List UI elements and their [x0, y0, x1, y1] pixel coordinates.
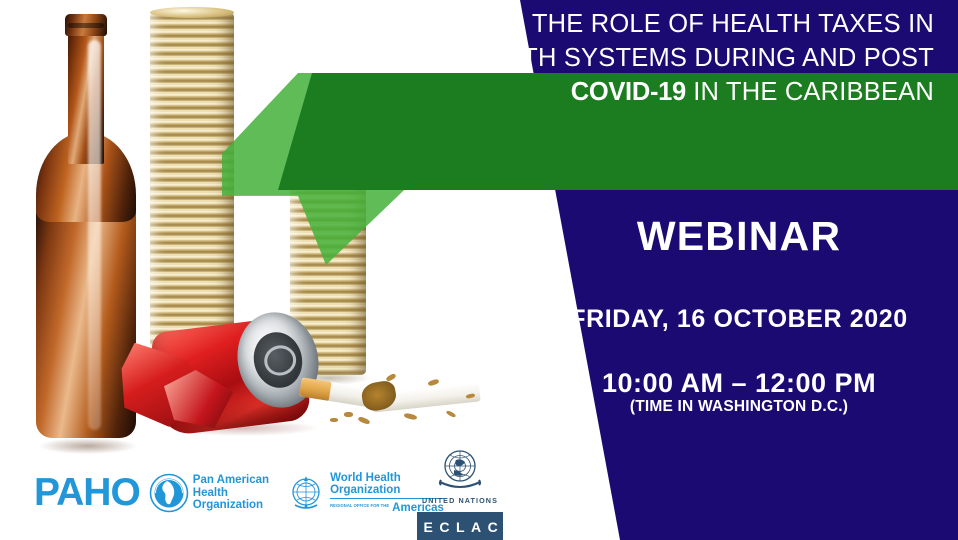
event-time: 10:00 AM – 12:00 PM: [520, 368, 958, 399]
cigarette-filter: [299, 377, 332, 400]
tobacco-flake: [404, 413, 418, 421]
tobacco-flake: [385, 373, 396, 382]
title-line-2: HEALTH SYSTEMS DURING AND POST: [306, 41, 934, 75]
united-nations-label: UNITED NATIONS: [412, 496, 508, 505]
pan-american-health-organization-text: Pan American Health Organization: [193, 474, 269, 511]
crushed-soda-can-image: [112, 312, 320, 434]
title-line-1: THE ROLE OF HEALTH TAXES IN: [306, 7, 934, 41]
paho-emblem-icon: [149, 473, 189, 513]
event-type-heading: WEBINAR: [520, 213, 958, 260]
tobacco-flake: [344, 412, 353, 417]
paho-acronym: PAHO: [34, 473, 140, 512]
paho-logo: PAHO Pan American Health Organization: [34, 472, 444, 514]
title-line-3-rest: IN THE CARIBBEAN: [686, 78, 934, 106]
united-nations-emblem-icon: [432, 444, 488, 494]
who-emblem-icon: [286, 473, 326, 513]
bottle-shadow: [40, 438, 136, 454]
broken-cigarette-image: [300, 372, 482, 424]
webinar-promo-poster: PAHO Pan American Health Organization: [0, 0, 958, 540]
title-line-3: COVID-19 IN THE CARIBBEAN: [306, 75, 934, 109]
eclac-label: ECLAC: [417, 512, 503, 540]
tobacco-flake: [330, 418, 338, 422]
tobacco-flake: [427, 378, 439, 386]
paho-line-2: Health: [193, 487, 269, 499]
bottle-lip: [65, 14, 107, 36]
can-shadow: [168, 420, 318, 436]
tobacco-flake: [446, 410, 457, 418]
coin-top-face: [150, 7, 234, 18]
bottle-highlight: [88, 40, 101, 430]
un-eclac-logo: UNITED NATIONS ECLAC: [412, 444, 508, 540]
poster-title: THE ROLE OF HEALTH TAXES IN HEALTH SYSTE…: [306, 7, 934, 109]
event-date: FRIDAY, 16 OCTOBER 2020: [520, 305, 958, 334]
event-timezone: (TIME IN WASHINGTON D.C.): [520, 398, 958, 416]
who-regional-office-text: REGIONAL OFFICE FOR THE: [330, 500, 389, 514]
paho-line-3: Organization: [193, 499, 269, 511]
title-covid-emphasis: COVID-19: [571, 78, 686, 106]
tobacco-flake: [358, 416, 371, 425]
paho-line-1: Pan American: [193, 474, 269, 486]
